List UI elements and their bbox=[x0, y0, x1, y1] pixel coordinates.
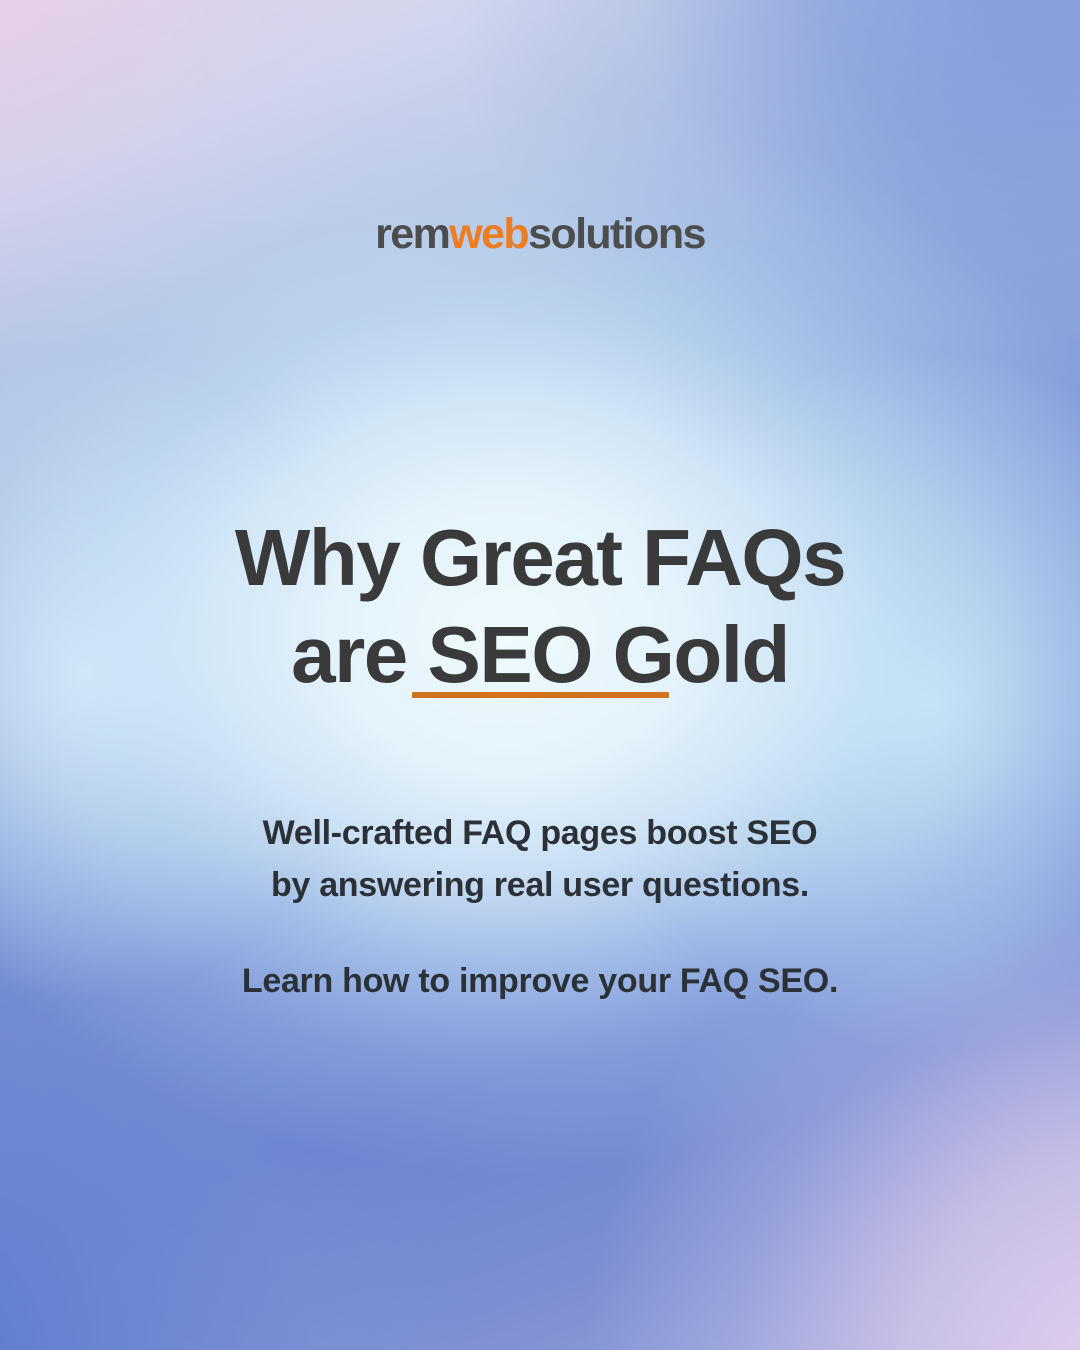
page-title: Why Great FAQs are SEO Gold bbox=[0, 509, 1080, 704]
accent-divider bbox=[412, 692, 669, 698]
social-post-card: remwebsolutions Why Great FAQs are SEO G… bbox=[0, 0, 1080, 1350]
logo-text-solutions: solutions bbox=[528, 210, 705, 258]
divider-container bbox=[0, 692, 1080, 698]
body-copy-line-2: by answering real user questions. bbox=[110, 860, 970, 912]
card-content: remwebsolutions Why Great FAQs are SEO G… bbox=[0, 0, 1080, 1350]
body-copy: Well-crafted FAQ pages boost SEO by answ… bbox=[0, 808, 1080, 911]
cta-text: Learn how to improve your FAQ SEO. bbox=[0, 956, 1080, 1007]
brand-logo: remwebsolutions bbox=[0, 213, 1080, 256]
logo-text-rem: rem bbox=[375, 210, 449, 258]
page-title-line-1: Why Great FAQs bbox=[90, 509, 990, 607]
page-title-line-2: are SEO Gold bbox=[90, 606, 990, 704]
logo-text-web: web bbox=[449, 210, 528, 258]
body-copy-line-1: Well-crafted FAQ pages boost SEO bbox=[110, 808, 970, 860]
